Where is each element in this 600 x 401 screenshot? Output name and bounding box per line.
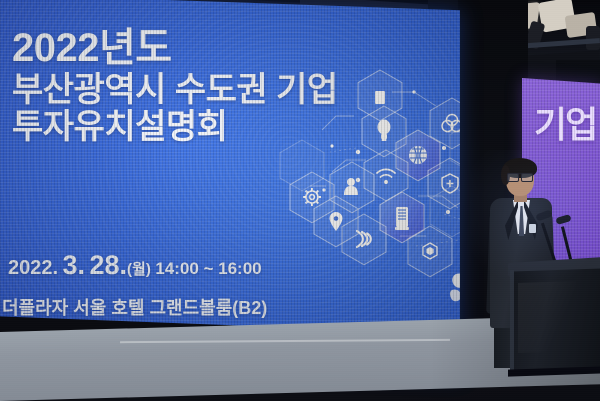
- speaker-lapel-badge: [529, 224, 536, 233]
- led-title-line-2: 부산광역시 수도권 기업: [12, 73, 342, 108]
- busan-city-symbol-icon: [448, 270, 460, 304]
- podium: [510, 260, 600, 380]
- date-time: 14:00 ~ 16:00: [155, 259, 261, 278]
- led-title-block: 2022년도 부산광역시 수도권 기업 투자유치설명회: [12, 28, 342, 145]
- date-year: 2022.: [8, 257, 58, 279]
- stage-photo-scene: 2022년도 부산광역시 수도권 기업 투자유치설명회 2022. 3. 28.…: [0, 0, 600, 401]
- date-weekday: (월): [127, 261, 151, 278]
- podium-edge: [510, 270, 514, 374]
- led-venue-line: 더플라자 서울 호텔 그랜드볼룸(B2): [2, 294, 362, 320]
- busan-logo: 부 BUSAN: [448, 270, 460, 312]
- floor-seam: [120, 339, 450, 343]
- led-title-line-1: 2022년도: [12, 28, 342, 69]
- speaker-eyeglasses-icon: [507, 173, 533, 181]
- date-day: 28.: [90, 250, 128, 280]
- podium-highlight: [518, 281, 576, 353]
- led-title-line-3: 투자유치설명회: [12, 110, 342, 145]
- hexagon-tech-network-graphic: [296, 86, 460, 271]
- date-month: 3.: [63, 250, 86, 280]
